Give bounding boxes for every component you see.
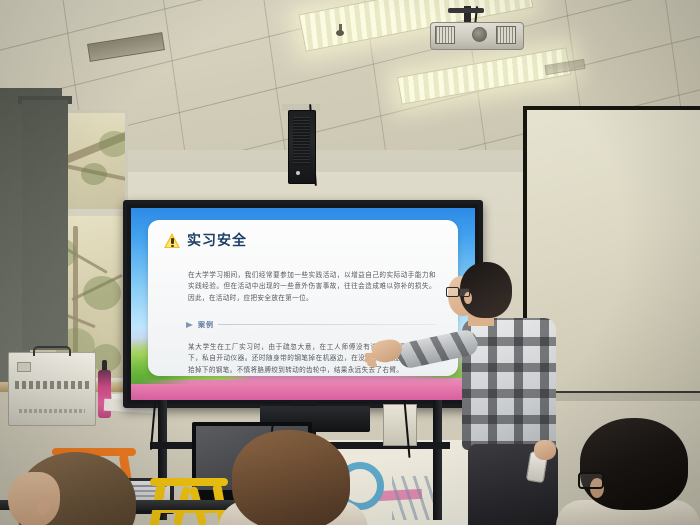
ceiling-projector xyxy=(430,6,522,54)
case-subtext xyxy=(19,409,85,413)
speaker-grill-icon xyxy=(293,117,310,165)
student-left-ear xyxy=(36,496,49,515)
slide-title-row: 实习安全 xyxy=(164,230,247,250)
presenter-person xyxy=(406,262,576,525)
slide-title: 实习安全 xyxy=(187,230,247,250)
projector-lens xyxy=(472,27,487,42)
classroom-photo: 实习安全 在大学学习期间，我们经常要参加一些实践活动，以增益自己的实际动手能力和… xyxy=(0,0,700,525)
equipment-case xyxy=(8,352,96,426)
slide-case-heading-row: 案例 xyxy=(186,318,436,331)
student-center-hair xyxy=(232,430,350,525)
sprinkler-head xyxy=(336,24,344,36)
wall-speaker xyxy=(288,110,316,184)
warning-triangle-icon xyxy=(164,233,181,248)
case-badge xyxy=(17,362,31,372)
arrow-right-icon xyxy=(186,321,194,328)
glasses-icon xyxy=(578,472,604,489)
glasses-icon xyxy=(446,287,470,296)
presenter-hand xyxy=(534,440,556,460)
slide-case-label: 案例 xyxy=(198,320,214,330)
slide-paragraph-1: 在大学学习期间，我们经常要参加一些实践活动，以增益自己的实际动手能力和实践经验。… xyxy=(188,270,436,304)
case-handle[interactable] xyxy=(33,346,71,356)
speaker-led-icon xyxy=(296,171,300,175)
slide-divider xyxy=(218,324,436,325)
window-blind[interactable] xyxy=(22,100,68,350)
student-left-face xyxy=(8,472,60,525)
case-label-text xyxy=(15,381,89,389)
